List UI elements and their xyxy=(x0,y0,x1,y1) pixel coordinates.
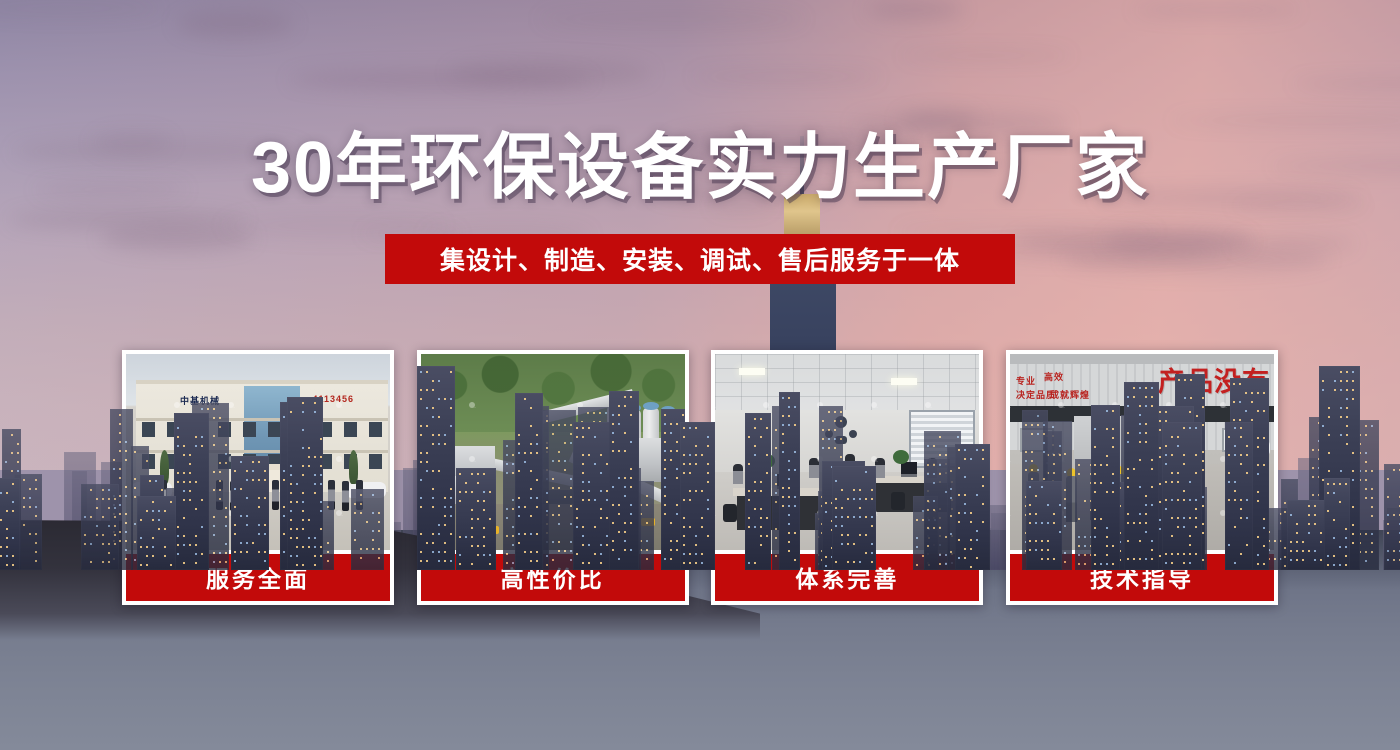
building-window xyxy=(546,564,548,566)
building-window xyxy=(1340,434,1342,436)
building-window xyxy=(927,445,929,447)
building-window xyxy=(536,434,538,436)
building-window xyxy=(140,519,142,521)
building-window xyxy=(1145,522,1147,524)
building-window xyxy=(1371,425,1373,427)
building-window xyxy=(582,499,584,501)
building-window xyxy=(1127,513,1129,515)
building-window xyxy=(1352,479,1354,481)
building-window xyxy=(146,564,148,566)
building-window xyxy=(420,479,422,481)
building-window xyxy=(670,423,672,425)
building-window xyxy=(450,407,452,409)
building-window xyxy=(1365,479,1367,481)
building-window xyxy=(1302,559,1304,561)
building-window xyxy=(225,444,227,446)
building-window xyxy=(1257,536,1259,538)
building-window xyxy=(314,546,316,548)
building-window xyxy=(939,436,941,438)
building-window xyxy=(558,514,560,516)
building-window xyxy=(558,424,560,426)
building-window xyxy=(518,452,520,454)
building-window xyxy=(320,465,322,467)
building-window xyxy=(624,396,626,398)
building-window xyxy=(134,478,136,480)
building-window xyxy=(1328,416,1330,418)
building-window xyxy=(612,441,614,443)
building-window xyxy=(1365,533,1367,535)
building-window xyxy=(225,543,227,545)
skyline-building xyxy=(680,422,715,570)
building-window xyxy=(530,560,532,562)
building-window xyxy=(1371,515,1373,517)
building-window xyxy=(593,412,595,414)
building-window xyxy=(1263,563,1265,565)
building-window xyxy=(1296,550,1298,552)
building-window xyxy=(618,513,620,515)
building-window xyxy=(976,557,978,559)
building-window xyxy=(939,563,941,565)
building-window xyxy=(1165,562,1167,564)
building-window xyxy=(314,402,316,404)
building-window xyxy=(35,488,37,490)
building-window xyxy=(1257,437,1259,439)
building-window xyxy=(1234,427,1236,429)
building-window xyxy=(1052,426,1054,428)
building-window xyxy=(582,535,584,537)
building-window xyxy=(23,506,25,508)
building-window xyxy=(564,424,566,426)
building-window xyxy=(308,447,310,449)
building-window xyxy=(1183,526,1185,528)
building-window xyxy=(1202,505,1204,507)
building-window xyxy=(676,504,678,506)
building-window xyxy=(1314,523,1316,525)
building-window xyxy=(1106,455,1108,457)
building-window xyxy=(213,525,215,527)
building-window xyxy=(1352,542,1354,544)
building-window xyxy=(546,447,548,449)
building-window xyxy=(1263,545,1265,547)
building-window xyxy=(841,489,843,491)
building-window xyxy=(865,498,867,500)
building-window xyxy=(512,499,514,501)
building-window xyxy=(450,371,452,373)
building-window xyxy=(1139,432,1141,434)
building-window xyxy=(290,474,292,476)
building-window xyxy=(1043,433,1045,435)
building-window xyxy=(302,510,304,512)
building-window xyxy=(125,513,127,515)
building-window xyxy=(682,414,684,416)
building-window xyxy=(933,509,935,511)
building-window xyxy=(701,526,703,528)
building-window xyxy=(530,443,532,445)
building-window xyxy=(624,522,626,524)
building-window xyxy=(695,535,697,537)
building-window xyxy=(835,498,837,500)
building-window xyxy=(1234,490,1236,492)
building-window xyxy=(788,487,790,489)
building-window xyxy=(1041,486,1043,488)
building-window xyxy=(1171,553,1173,555)
building-window xyxy=(794,424,796,426)
building-window xyxy=(102,543,104,545)
building-window xyxy=(546,420,548,422)
building-window xyxy=(1233,383,1235,385)
building-window xyxy=(1145,405,1147,407)
building-window xyxy=(1345,555,1347,557)
building-window xyxy=(432,443,434,445)
building-window xyxy=(570,541,572,543)
building-window xyxy=(6,564,8,566)
building-window xyxy=(164,510,166,512)
building-window xyxy=(1029,549,1031,551)
building-window xyxy=(264,551,266,553)
building-window xyxy=(195,445,197,447)
building-window xyxy=(189,454,191,456)
building-window xyxy=(825,511,827,513)
building-window xyxy=(835,561,837,563)
building-window xyxy=(1333,519,1335,521)
building-window xyxy=(689,454,691,456)
building-window xyxy=(695,463,697,465)
building-window xyxy=(1145,531,1147,533)
tree xyxy=(349,450,358,484)
building-window xyxy=(558,550,560,552)
building-window xyxy=(1327,492,1329,494)
building-window xyxy=(612,414,614,416)
building-window xyxy=(1189,517,1191,519)
building-window xyxy=(378,521,380,523)
building-window xyxy=(822,447,824,449)
building-window xyxy=(1159,420,1161,422)
building-window xyxy=(96,525,98,527)
building-window xyxy=(1371,470,1373,472)
building-window xyxy=(1246,454,1248,456)
skyline-building xyxy=(832,466,876,570)
building-window xyxy=(1290,559,1292,561)
building-window xyxy=(177,427,179,429)
building-window xyxy=(183,445,185,447)
building-window xyxy=(1284,565,1286,567)
building-window xyxy=(982,485,984,487)
building-window xyxy=(119,441,121,443)
building-window xyxy=(599,412,601,414)
building-window xyxy=(1035,549,1037,551)
building-window xyxy=(594,463,596,465)
building-window xyxy=(1365,560,1367,562)
building-window xyxy=(459,536,461,538)
building-window xyxy=(664,423,666,425)
building-window xyxy=(140,564,142,566)
building-window xyxy=(950,533,952,535)
building-window xyxy=(1133,396,1135,398)
building-window xyxy=(552,478,554,480)
building-window xyxy=(1139,414,1141,416)
building-window xyxy=(1112,446,1114,448)
building-window xyxy=(1284,556,1286,558)
building-window xyxy=(1371,497,1373,499)
building-window xyxy=(630,513,632,515)
building-window xyxy=(225,516,227,518)
building-window xyxy=(958,494,960,496)
building-window xyxy=(1178,379,1180,381)
building-window xyxy=(372,512,374,514)
building-window xyxy=(847,561,849,563)
building-window xyxy=(432,488,434,490)
building-window xyxy=(264,533,266,535)
building-window xyxy=(354,503,356,505)
building-window xyxy=(426,425,428,427)
building-window xyxy=(835,525,837,527)
building-window xyxy=(283,515,285,517)
building-window xyxy=(114,534,116,536)
building-window xyxy=(871,498,873,500)
ceiling xyxy=(715,354,979,410)
building-window xyxy=(760,526,762,528)
building-window xyxy=(302,402,304,404)
building-window xyxy=(161,489,163,491)
building-window xyxy=(1177,445,1179,447)
building-window xyxy=(552,559,554,561)
building-window xyxy=(1100,518,1102,520)
building-window xyxy=(970,521,972,523)
building-window xyxy=(1239,383,1241,385)
building-window xyxy=(177,445,179,447)
building-window xyxy=(314,555,316,557)
building-window xyxy=(125,540,127,542)
building-window xyxy=(834,429,836,431)
building-window xyxy=(1202,406,1204,408)
building-window xyxy=(933,527,935,529)
building-window xyxy=(689,526,691,528)
building-window xyxy=(871,516,873,518)
building-window xyxy=(225,507,227,509)
building-window xyxy=(283,533,285,535)
building-window xyxy=(320,546,322,548)
building-window xyxy=(320,501,322,503)
building-window xyxy=(964,557,966,559)
building-window xyxy=(1159,429,1161,431)
building-window xyxy=(234,551,236,553)
building-window xyxy=(1127,486,1129,488)
building-window xyxy=(1333,492,1335,494)
skyline-building xyxy=(924,459,949,570)
building-window xyxy=(84,534,86,536)
building-window xyxy=(12,555,14,557)
building-window xyxy=(933,482,935,484)
building-window xyxy=(1094,518,1096,520)
building-window xyxy=(1145,423,1147,425)
building-window xyxy=(1240,508,1242,510)
building-window xyxy=(775,555,777,557)
building-window xyxy=(536,551,538,553)
building-window xyxy=(1189,427,1191,429)
building-window xyxy=(420,389,422,391)
building-window xyxy=(701,562,703,564)
building-window xyxy=(976,539,978,541)
building-window xyxy=(258,524,260,526)
building-window xyxy=(1127,396,1129,398)
building-window xyxy=(108,507,110,509)
building-window xyxy=(195,535,197,537)
building-window xyxy=(314,474,316,476)
building-window xyxy=(234,560,236,562)
building-window xyxy=(1327,564,1329,566)
building-window xyxy=(1257,491,1259,493)
building-window xyxy=(1274,540,1276,542)
building-window xyxy=(12,537,14,539)
building-window xyxy=(234,488,236,490)
building-window xyxy=(420,551,422,553)
building-window xyxy=(788,478,790,480)
building-window xyxy=(794,406,796,408)
building-window xyxy=(1202,559,1204,561)
building-window xyxy=(530,488,532,490)
building-window xyxy=(1365,452,1367,454)
building-window xyxy=(588,481,590,483)
building-window xyxy=(283,506,285,508)
building-window xyxy=(477,500,479,502)
building-window xyxy=(465,491,467,493)
building-window xyxy=(1047,558,1049,560)
building-window xyxy=(775,474,777,476)
building-window xyxy=(320,438,322,440)
building-window xyxy=(134,523,136,525)
building-window xyxy=(859,498,861,500)
building-window xyxy=(933,500,935,502)
building-window xyxy=(1308,532,1310,534)
building-window xyxy=(570,442,572,444)
building-window xyxy=(1340,416,1342,418)
building-window xyxy=(1334,380,1336,382)
building-window xyxy=(1031,433,1033,435)
building-window xyxy=(707,445,709,447)
building-window xyxy=(1352,371,1354,373)
building-window xyxy=(853,489,855,491)
building-window xyxy=(1314,550,1316,552)
building-window xyxy=(605,412,607,414)
building-window xyxy=(1112,563,1114,565)
building-window xyxy=(183,481,185,483)
building-window xyxy=(11,434,13,436)
building-window xyxy=(683,427,685,429)
building-window xyxy=(950,515,952,517)
building-window xyxy=(570,559,572,561)
building-window xyxy=(775,501,777,503)
building-window xyxy=(606,535,608,537)
building-window xyxy=(782,505,784,507)
building-window xyxy=(108,498,110,500)
building-window xyxy=(438,398,440,400)
building-window xyxy=(1183,562,1185,564)
building-window xyxy=(536,533,538,535)
building-window xyxy=(444,551,446,553)
building-window xyxy=(420,371,422,373)
building-window xyxy=(1064,453,1066,455)
building-window xyxy=(1029,540,1031,542)
building-window xyxy=(982,449,984,451)
building-window xyxy=(558,460,560,462)
building-window xyxy=(958,449,960,451)
building-window xyxy=(1025,469,1027,471)
building-window xyxy=(788,514,790,516)
building-window xyxy=(1346,407,1348,409)
building-window xyxy=(1112,437,1114,439)
building-window xyxy=(558,523,560,525)
building-window xyxy=(1393,559,1395,561)
building-window xyxy=(1296,541,1298,543)
building-window xyxy=(360,548,362,550)
building-window xyxy=(1234,562,1236,564)
building-window xyxy=(378,557,380,559)
building-window xyxy=(588,490,590,492)
building-window xyxy=(564,442,566,444)
building-window xyxy=(483,527,485,529)
building-window xyxy=(1246,517,1248,519)
building-window xyxy=(754,526,756,528)
building-window xyxy=(1352,452,1354,454)
building-window xyxy=(594,526,596,528)
building-window xyxy=(426,452,428,454)
building-window xyxy=(536,497,538,499)
building-window xyxy=(1371,506,1373,508)
building-window xyxy=(618,504,620,506)
building-window xyxy=(240,461,242,463)
building-window xyxy=(546,501,548,503)
building-window xyxy=(1346,398,1348,400)
building-window xyxy=(1190,379,1192,381)
building-window xyxy=(825,565,827,567)
skyline-building xyxy=(417,366,455,570)
building-window xyxy=(552,460,554,462)
building-window xyxy=(1228,544,1230,546)
building-window xyxy=(1100,464,1102,466)
building-window xyxy=(459,563,461,565)
building-window xyxy=(1139,459,1141,461)
building-window xyxy=(683,526,685,528)
building-window xyxy=(1035,513,1037,515)
building-window xyxy=(240,551,242,553)
building-window xyxy=(618,531,620,533)
building-window xyxy=(17,443,19,445)
building-window xyxy=(552,541,554,543)
building-window xyxy=(302,492,304,494)
building-window xyxy=(432,416,434,418)
building-window xyxy=(177,472,179,474)
building-window xyxy=(1159,528,1161,530)
building-window xyxy=(970,539,972,541)
building-window xyxy=(134,451,136,453)
building-window xyxy=(1171,499,1173,501)
building-window xyxy=(1151,504,1153,506)
building-window xyxy=(1302,541,1304,543)
staff-member xyxy=(272,480,279,510)
building-window xyxy=(871,489,873,491)
building-window xyxy=(582,463,584,465)
building-window xyxy=(512,526,514,528)
building-window xyxy=(683,454,685,456)
building-window xyxy=(683,544,685,546)
building-window xyxy=(558,451,560,453)
cloud xyxy=(1133,3,1299,18)
building-window xyxy=(1365,425,1367,427)
building-window xyxy=(530,533,532,535)
building-window xyxy=(246,470,248,472)
building-window xyxy=(1084,563,1086,565)
building-window xyxy=(1106,536,1108,538)
